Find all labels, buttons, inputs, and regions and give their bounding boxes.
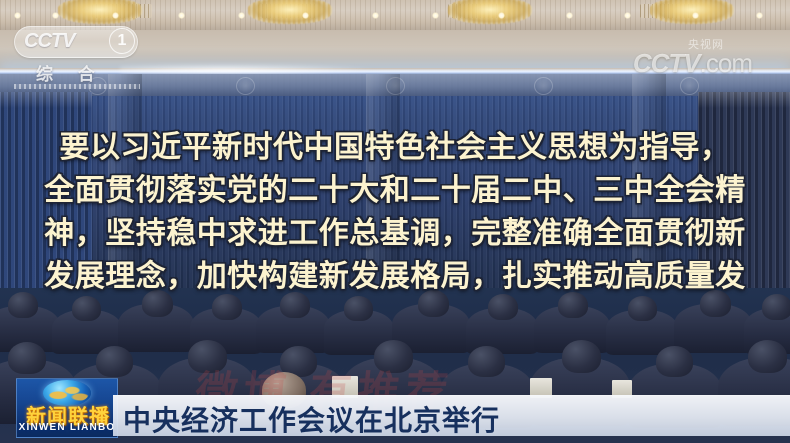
chandelier-fixture (248, 0, 332, 24)
ceiling-light (52, 12, 59, 19)
subtitle-line-3: 神，坚持稳中求进工作总基调，完整准确全面贯彻新 (0, 212, 790, 255)
ceiling-light (372, 12, 379, 19)
program-logo: 新闻联播 XINWEN LIANBO (16, 378, 118, 438)
ceiling-light (566, 12, 573, 19)
chandelier-fixture (650, 0, 734, 24)
web-watermark-suffix: .com (700, 48, 752, 78)
ceiling-light (692, 12, 699, 19)
attendee-head (656, 346, 693, 377)
web-watermark-brand: CCTV.com (633, 52, 752, 74)
attendee-head (628, 296, 657, 321)
ceiling-light (178, 12, 185, 19)
headline-text: 中央经济工作会议在北京举行 (123, 399, 500, 439)
ceiling-light (302, 12, 309, 19)
subtitle-block: 要以习近平新时代中国特色社会主义思想为指导， 全面贯彻落实党的二十大和二十届二中… (0, 126, 790, 298)
ceiling-light (238, 12, 245, 19)
headline-bar: 中央经济工作会议在北京举行 (113, 395, 790, 436)
attendee-head (468, 346, 505, 377)
ceiling-light (756, 12, 763, 19)
ceiling-light (14, 12, 21, 19)
ceiling-light (112, 12, 119, 19)
channel-number: 1 (109, 28, 135, 54)
tv-broadcast-frame: 要以习近平新时代中国特色社会主义思想为指导， 全面贯彻落实党的二十大和二十届二中… (0, 0, 790, 443)
attendee-head (748, 340, 787, 373)
attendee-head (344, 296, 373, 321)
curtain-valance-right (698, 92, 790, 108)
program-logo-en: XINWEN LIANBO (17, 422, 117, 433)
attendee-head (8, 342, 46, 374)
attendee-head (374, 340, 413, 373)
channel-bug: CCTV 1 综 合 (14, 26, 144, 86)
subtitle-line-2: 全面贯彻落实党的二十大和二十届二中、三中全会精 (0, 169, 790, 212)
subtitle-line-4: 发展理念，加快构建新发展格局，扎实推动高质量发 (0, 255, 790, 298)
ceiling-light (624, 12, 631, 19)
ceiling-light (432, 12, 439, 19)
attendee-head (72, 296, 101, 321)
web-watermark: 央视网 CCTV.com (633, 36, 752, 74)
chandelier-fixture (58, 0, 142, 24)
channel-name-label: 综 合 (36, 60, 105, 85)
lower-third-banner: 新闻联播 XINWEN LIANBO 中央经济工作会议在北京举行 (0, 380, 790, 443)
web-watermark-cctv: CCTV (633, 48, 700, 78)
curtain-valance-left (0, 92, 92, 108)
channel-bug-underline (14, 84, 140, 89)
wall-medallion (534, 77, 553, 95)
attendee-head (188, 340, 227, 373)
wall-medallion (680, 77, 699, 95)
ceiling-light (498, 12, 505, 19)
subtitle-line-1: 要以习近平新时代中国特色社会主义思想为指导， (0, 126, 790, 169)
chandelier-fixture (448, 0, 532, 24)
attendee-head (562, 340, 601, 373)
wall-medallion (236, 77, 255, 95)
attendee-head (96, 346, 133, 377)
cctv-brand-text: CCTV (24, 30, 74, 53)
